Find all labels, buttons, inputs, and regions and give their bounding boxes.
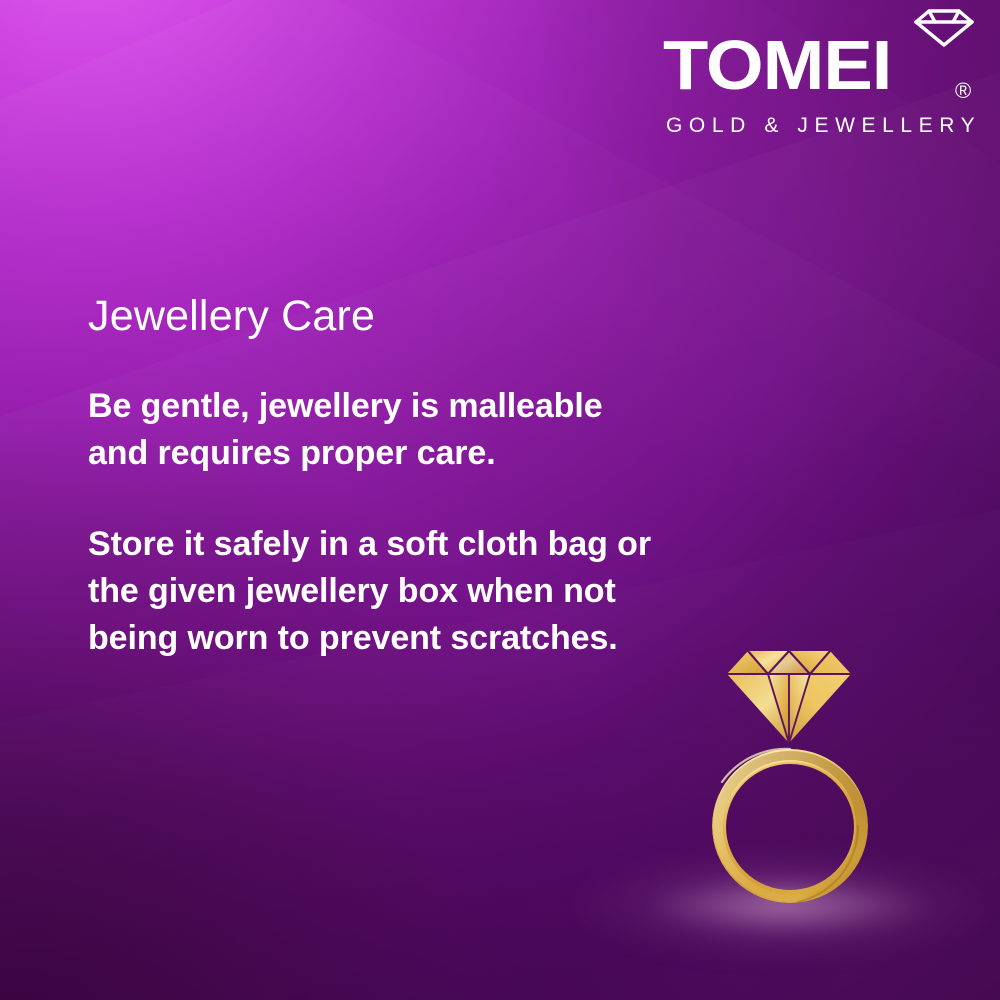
care-paragraph-2: Store it safely in a soft cloth bag or t… (88, 521, 668, 662)
logo-wordmark: TOMEI (663, 30, 891, 100)
poster-canvas: TOMEI ® GOLD & JEWELLERY Jewellery Care … (0, 0, 1000, 1000)
diamond-ring-illustration (690, 630, 890, 920)
logo-tagline: GOLD & JEWELLERY (666, 115, 981, 136)
gold-diamond-icon (727, 651, 851, 743)
registered-trademark-icon: ® (955, 80, 971, 102)
page-title: Jewellery Care (88, 292, 668, 340)
copy-block: Jewellery Care Be gentle, jewellery is m… (88, 292, 668, 662)
care-paragraph-1: Be gentle, jewellery is malleable and re… (88, 383, 668, 477)
diamond-outline-icon (913, 8, 975, 48)
brand-logo: TOMEI ® GOLD & JEWELLERY (655, 8, 985, 138)
gold-ring-band (712, 749, 868, 903)
